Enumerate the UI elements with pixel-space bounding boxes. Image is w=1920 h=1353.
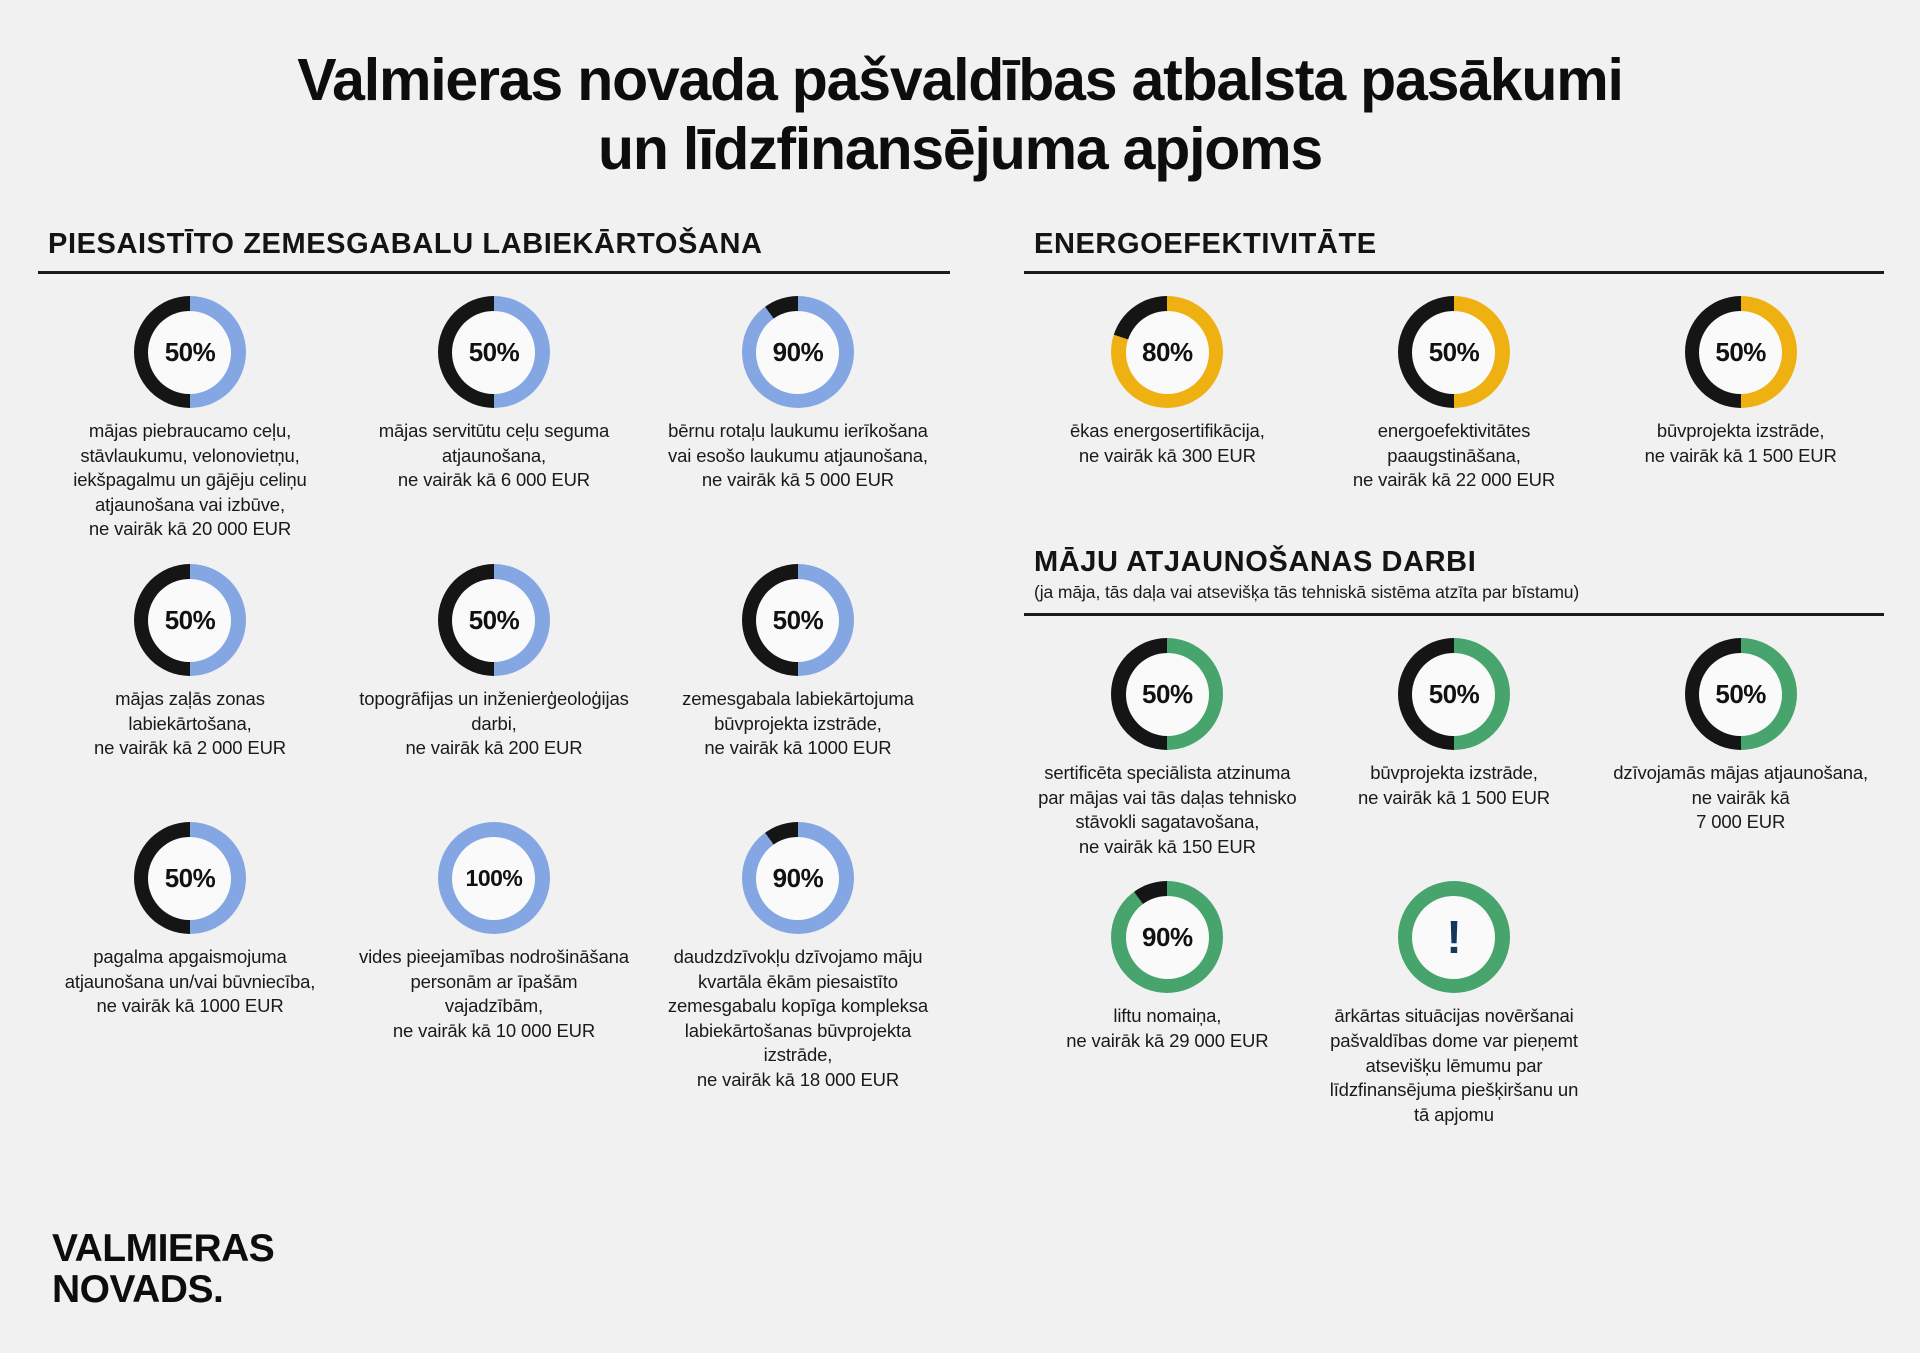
- donut-percent-label: 50%: [1429, 339, 1480, 365]
- donut-percent-label: 80%: [1142, 339, 1193, 365]
- measure-item: 50%mājas zaļās zonas labiekārtošana,ne v…: [38, 542, 342, 800]
- measure-caption: mājas piebraucamo ceļu, stāvlaukumu, vel…: [55, 419, 325, 542]
- donut-ring: 90%: [1111, 881, 1223, 993]
- measure-item: 50%mājas servitūtu ceļu seguma atjaunoša…: [342, 274, 646, 542]
- donut-percent-label: 50%: [165, 339, 216, 365]
- donut-ring: 50%: [134, 296, 246, 408]
- donut-chart: 50%: [1398, 638, 1510, 750]
- donut-percent-label: 50%: [165, 607, 216, 633]
- donut-ring: 50%: [1685, 638, 1797, 750]
- donut-percent-label: 50%: [1715, 681, 1766, 707]
- donut-chart: 90%: [742, 296, 854, 408]
- donut-ring: 50%: [438, 564, 550, 676]
- section-header-energoefektivitate: ENERGOEFEKTIVITĀTE: [1024, 228, 1884, 274]
- donut-center: 50%: [452, 579, 535, 662]
- donut-percent-label: 50%: [1715, 339, 1766, 365]
- measure-item: 50%mājas piebraucamo ceļu, stāvlaukumu, …: [38, 274, 342, 542]
- measure-item: 50%būvprojekta izstrāde,ne vairāk kā 1 5…: [1597, 274, 1884, 510]
- donut-center: 50%: [1699, 653, 1782, 736]
- measure-item: 50%topogrāfijas un inženierģeoloģijas da…: [342, 542, 646, 800]
- donut-center: 50%: [452, 311, 535, 394]
- measure-caption: topogrāfijas un inženierģeoloģijas darbi…: [359, 687, 629, 761]
- measure-item: 100%vides pieejamības nodrošināšana pers…: [342, 800, 646, 1093]
- donut-center: 80%: [1126, 311, 1209, 394]
- donut-center: 90%: [1126, 896, 1209, 979]
- page-title-line-2: un līdzfinansējuma apjoms: [140, 115, 1780, 184]
- donut-ring: 100%: [438, 822, 550, 934]
- measure-item: !ārkārtas situācijas novēršanai pašvaldī…: [1311, 859, 1598, 1127]
- donut-percent-label: 50%: [469, 607, 520, 633]
- measure-caption: ārkārtas situācijas novēršanai pašvaldīb…: [1323, 1004, 1585, 1127]
- donut-center: 50%: [1699, 311, 1782, 394]
- infographic-page: Valmieras novada pašvaldības atbalsta pa…: [0, 0, 1920, 1353]
- donut-center: 50%: [1412, 311, 1495, 394]
- measure-caption: daudzdzīvokļu dzīvojamo māju kvartāla ēk…: [663, 945, 933, 1093]
- measure-item: 90%bērnu rotaļu laukumu ierīkošana vai e…: [646, 274, 950, 542]
- donut-chart: 90%: [742, 822, 854, 934]
- donut-chart: 90%: [1111, 881, 1223, 993]
- donut-chart: 50%: [742, 564, 854, 676]
- measure-item: 90%liftu nomaiņa,ne vairāk kā 29 000 EUR: [1024, 859, 1311, 1127]
- measure-item: 80%ēkas energosertifikācija,ne vairāk kā…: [1024, 274, 1311, 510]
- donut-ring: 50%: [438, 296, 550, 408]
- donut-center: 90%: [756, 837, 839, 920]
- donut-chart: 50%: [134, 564, 246, 676]
- section-header-piesaistito: PIESAISTĪTO ZEMESGABALU LABIEKĀRTOŠANA: [38, 228, 950, 274]
- measure-caption: dzīvojamās mājas atjaunošana, ne vairāk …: [1610, 761, 1872, 835]
- donut-percent-label: 50%: [165, 865, 216, 891]
- column-left: PIESAISTĪTO ZEMESGABALU LABIEKĀRTOŠANA 5…: [38, 228, 950, 1127]
- donut-percent-label: 50%: [1429, 681, 1480, 707]
- donut-center: !: [1412, 896, 1495, 979]
- logo-line-1: VALMIERAS: [52, 1229, 274, 1270]
- section-items-energoefektivitate: 80%ēkas energosertifikācija,ne vairāk kā…: [1024, 274, 1884, 510]
- donut-ring: 50%: [134, 822, 246, 934]
- section-title-energoefektivitate: ENERGOEFEKTIVITĀTE: [1024, 228, 1884, 261]
- donut-ring: 80%: [1111, 296, 1223, 408]
- measure-caption: energoefektivitātes paaugstināšana,ne va…: [1323, 419, 1585, 493]
- section-items-piesaistito: 50%mājas piebraucamo ceļu, stāvlaukumu, …: [38, 274, 950, 1093]
- content-columns: PIESAISTĪTO ZEMESGABALU LABIEKĀRTOŠANA 5…: [0, 228, 1920, 1127]
- section-title-piesaistito: PIESAISTĪTO ZEMESGABALU LABIEKĀRTOŠANA: [38, 228, 950, 261]
- donut-center: 90%: [756, 311, 839, 394]
- donut-ring: 90%: [742, 822, 854, 934]
- donut-percent-label: 90%: [1142, 924, 1193, 950]
- donut-chart: 100%: [438, 822, 550, 934]
- valmieras-novads-logo: VALMIERAS NOVADS.: [52, 1229, 274, 1311]
- donut-ring: 50%: [742, 564, 854, 676]
- measure-caption: zemesgabala labiekārtojuma būvprojekta i…: [663, 687, 933, 761]
- measure-item: 50%sertificēta speciālista atzinuma par …: [1024, 616, 1311, 859]
- logo-line-2: NOVADS.: [52, 1270, 274, 1311]
- donut-percent-label: 90%: [773, 865, 824, 891]
- measure-caption: mājas servitūtu ceļu seguma atjaunošana,…: [359, 419, 629, 493]
- donut-center: 50%: [148, 579, 231, 662]
- warning-exclamation-icon: !: [1446, 914, 1461, 960]
- donut-chart: 80%: [1111, 296, 1223, 408]
- donut-chart: 50%: [134, 296, 246, 408]
- donut-chart: 50%: [1685, 638, 1797, 750]
- donut-center: 50%: [1412, 653, 1495, 736]
- donut-center: 50%: [148, 837, 231, 920]
- measure-item: 90%daudzdzīvokļu dzīvojamo māju kvartāla…: [646, 800, 950, 1093]
- donut-center: 50%: [1126, 653, 1209, 736]
- measure-caption: būvprojekta izstrāde,ne vairāk kā 1 500 …: [1358, 761, 1550, 810]
- section-items-maju: 50%sertificēta speciālista atzinuma par …: [1024, 616, 1884, 1127]
- donut-center: 50%: [756, 579, 839, 662]
- donut-chart: 50%: [438, 296, 550, 408]
- donut-ring: 50%: [134, 564, 246, 676]
- donut-ring: 50%: [1685, 296, 1797, 408]
- measure-item: 50%zemesgabala labiekārtojuma būvprojekt…: [646, 542, 950, 800]
- measure-caption: liftu nomaiņa,ne vairāk kā 29 000 EUR: [1066, 1004, 1268, 1053]
- donut-percent-label: 100%: [466, 867, 523, 890]
- donut-center: 100%: [452, 837, 535, 920]
- donut-ring: 50%: [1398, 638, 1510, 750]
- donut-percent-label: 90%: [773, 339, 824, 365]
- donut-percent-label: 50%: [469, 339, 520, 365]
- measure-caption: vides pieejamības nodrošināšana personām…: [359, 945, 629, 1043]
- donut-percent-label: 50%: [773, 607, 824, 633]
- measure-caption: mājas zaļās zonas labiekārtošana,ne vair…: [55, 687, 325, 761]
- donut-ring: !: [1398, 881, 1510, 993]
- donut-chart: !: [1398, 881, 1510, 993]
- measure-caption: sertificēta speciālista atzinuma par māj…: [1036, 761, 1298, 859]
- measure-caption: būvprojekta izstrāde,ne vairāk kā 1 500 …: [1645, 419, 1837, 468]
- donut-chart: 50%: [1111, 638, 1223, 750]
- column-right: ENERGOEFEKTIVITĀTE 80%ēkas energosertifi…: [1024, 228, 1884, 1127]
- donut-percent-label: 50%: [1142, 681, 1193, 707]
- measure-caption: ēkas energosertifikācija,ne vairāk kā 30…: [1070, 419, 1265, 468]
- measure-item: 50%dzīvojamās mājas atjaunošana, ne vair…: [1597, 616, 1884, 859]
- section-header-maju: MĀJU ATJAUNOŠANAS DARBI (ja māja, tās da…: [1024, 546, 1884, 616]
- measure-item: 50%energoefektivitātes paaugstināšana,ne…: [1311, 274, 1598, 510]
- page-title: Valmieras novada pašvaldības atbalsta pa…: [0, 0, 1920, 184]
- donut-ring: 50%: [1398, 296, 1510, 408]
- donut-chart: 50%: [1398, 296, 1510, 408]
- donut-chart: 50%: [134, 822, 246, 934]
- measure-item: 50%būvprojekta izstrāde,ne vairāk kā 1 5…: [1311, 616, 1598, 859]
- page-title-line-1: Valmieras novada pašvaldības atbalsta pa…: [140, 46, 1780, 115]
- donut-chart: 50%: [1685, 296, 1797, 408]
- measure-caption: bērnu rotaļu laukumu ierīkošana vai esoš…: [663, 419, 933, 493]
- measure-caption: pagalma apgaismojuma atjaunošana un/vai …: [55, 945, 325, 1019]
- measure-item: 50%pagalma apgaismojuma atjaunošana un/v…: [38, 800, 342, 1093]
- section-title-maju: MĀJU ATJAUNOŠANAS DARBI: [1024, 546, 1884, 579]
- donut-chart: 50%: [438, 564, 550, 676]
- section-subtitle-maju: (ja māja, tās daļa vai atsevišķa tās teh…: [1024, 582, 1884, 603]
- donut-ring: 50%: [1111, 638, 1223, 750]
- donut-center: 50%: [148, 311, 231, 394]
- donut-ring: 90%: [742, 296, 854, 408]
